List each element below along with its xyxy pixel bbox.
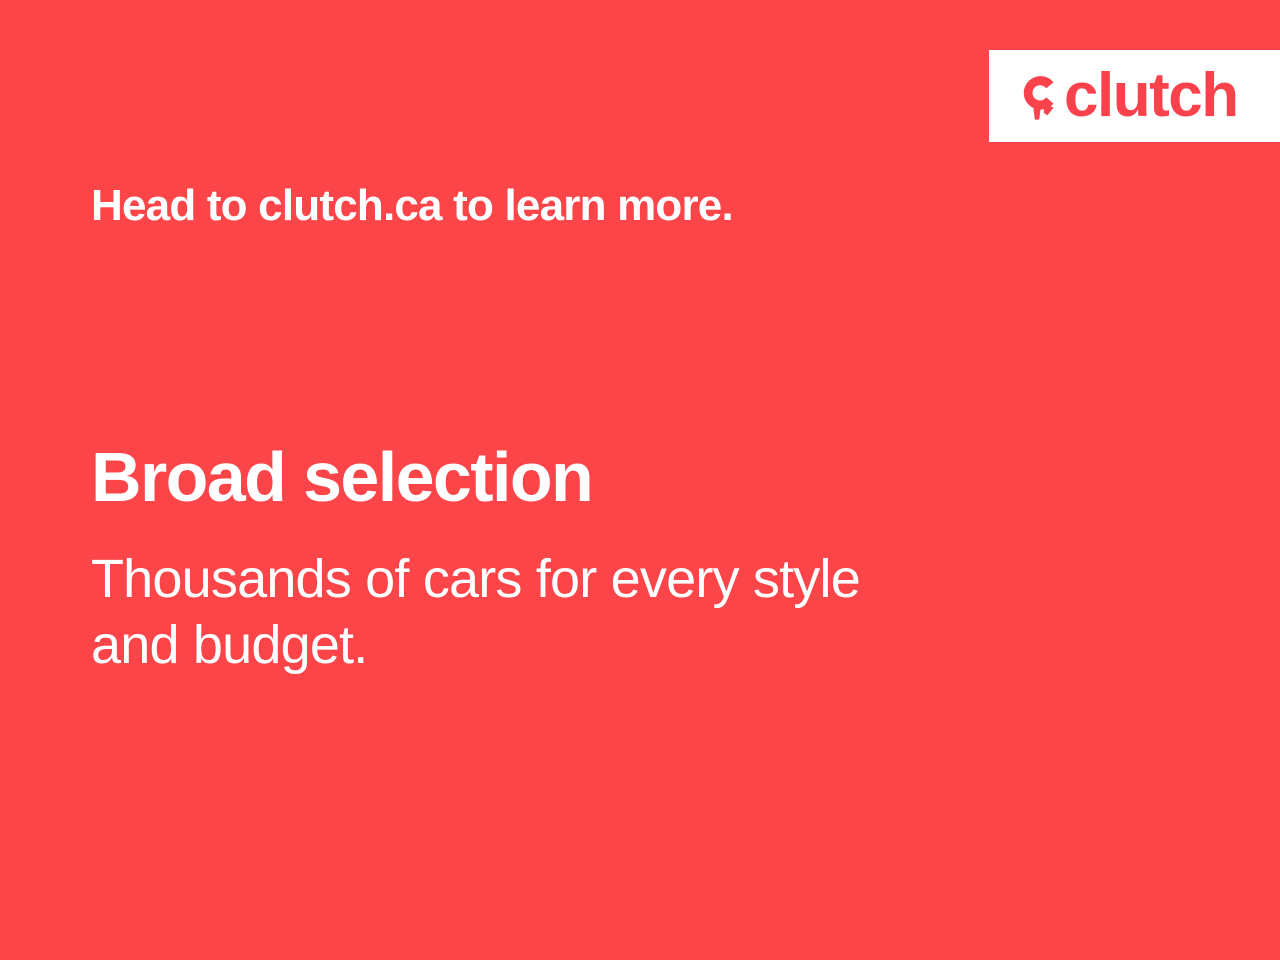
clutch-c-mark-icon: [1015, 70, 1061, 122]
clutch-wordmark: clutch: [1064, 70, 1238, 122]
subcopy-line: Thousands of cars for every style: [91, 546, 1051, 612]
clutch-logo-lockup: clutch: [1015, 70, 1238, 123]
page-title: Broad selection: [91, 437, 592, 517]
promo-slide: clutch Head to clutch.ca to learn more. …: [0, 0, 1280, 960]
subcopy-line: and budget.: [91, 612, 1051, 678]
clutch-logo-badge[interactable]: clutch: [989, 50, 1280, 142]
eyebrow-text: Head to clutch.ca to learn more.: [91, 181, 733, 231]
subcopy-block: Thousands of cars for every style and bu…: [91, 546, 1051, 678]
